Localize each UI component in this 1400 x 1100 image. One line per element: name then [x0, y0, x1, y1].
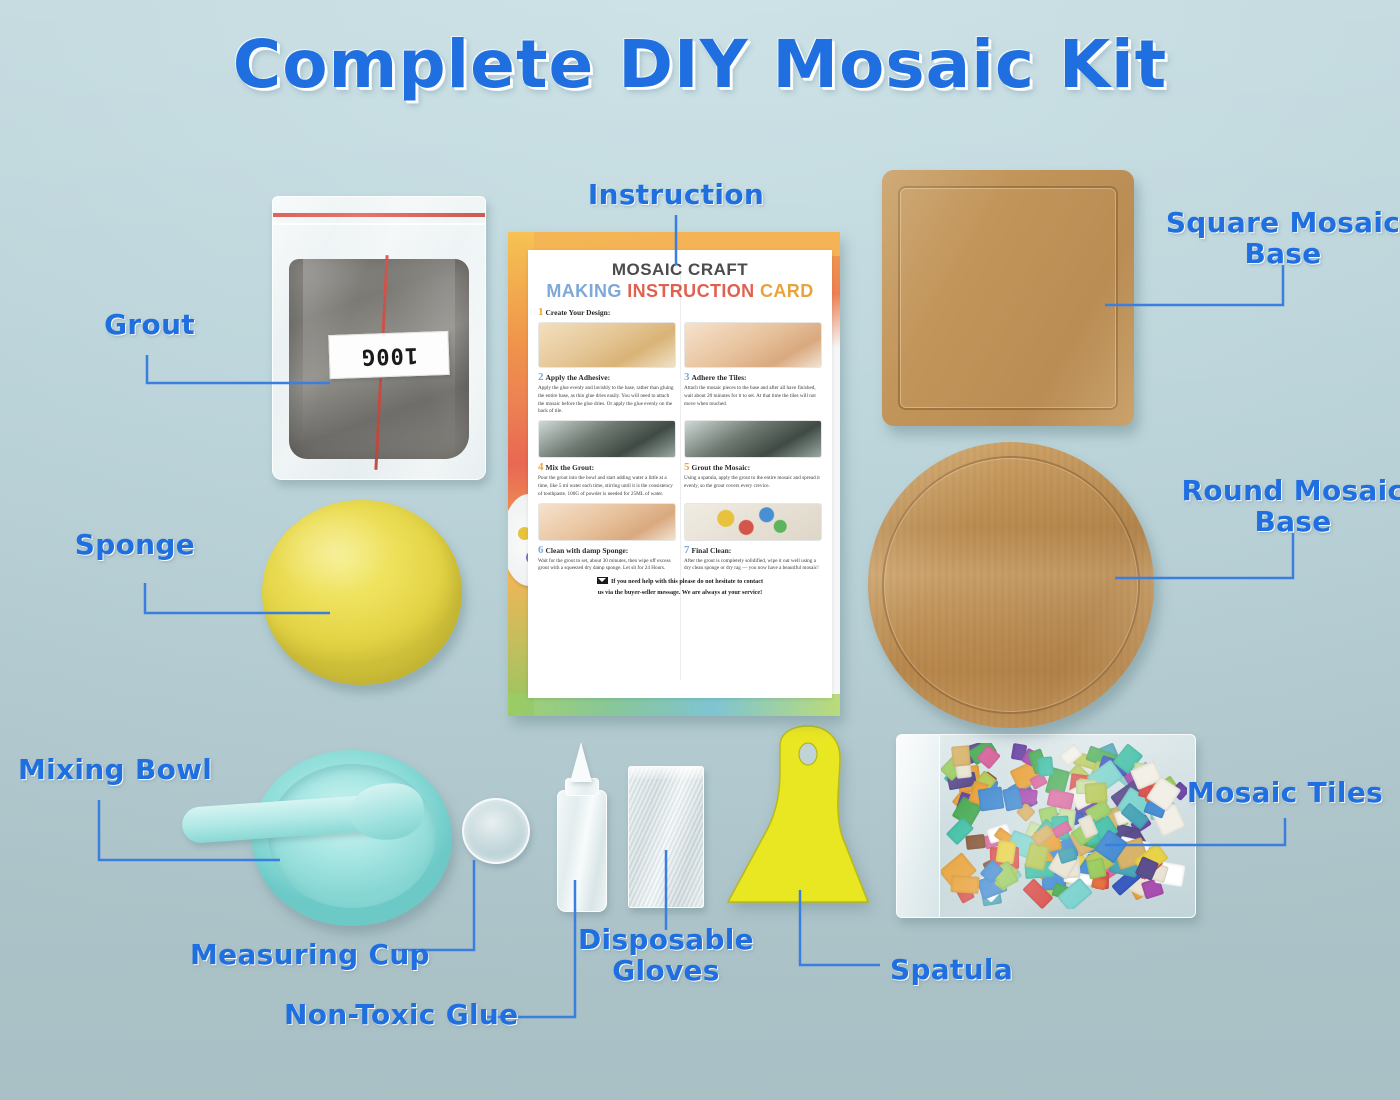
leader-non-toxic-glue [487, 880, 575, 1017]
leader-grout [147, 355, 330, 383]
callout-sponge: Sponge [0, 530, 195, 561]
callout-instruction: Instruction [556, 180, 796, 211]
product-infographic: Complete DIY Mosaic Kit 100G [0, 0, 1400, 1100]
leader-mosaic-tiles [1105, 818, 1285, 845]
callout-round-base: Round Mosaic Base [1173, 476, 1400, 538]
leader-square-base [1105, 265, 1283, 305]
leader-spatula [800, 890, 880, 965]
leader-round-base [1115, 533, 1293, 578]
callout-grout: Grout [0, 310, 195, 341]
callout-mixing-bowl: Mixing Bowl [18, 755, 278, 786]
page-title: Complete DIY Mosaic Kit [0, 26, 1400, 103]
callout-non-toxic-glue: Non-Toxic Glue [284, 1000, 554, 1031]
callout-disposable-gloves: Disposable Gloves [570, 925, 762, 987]
callout-measuring-cup: Measuring Cup [190, 940, 440, 971]
callout-spatula: Spatula [890, 955, 1110, 986]
leader-sponge [145, 583, 330, 613]
callout-mosaic-tiles: Mosaic Tiles [1165, 778, 1400, 809]
callout-square-base: Square Mosaic Base [1163, 208, 1400, 270]
leader-measuring-cup [396, 860, 474, 950]
leader-mixing-bowl [99, 800, 280, 860]
